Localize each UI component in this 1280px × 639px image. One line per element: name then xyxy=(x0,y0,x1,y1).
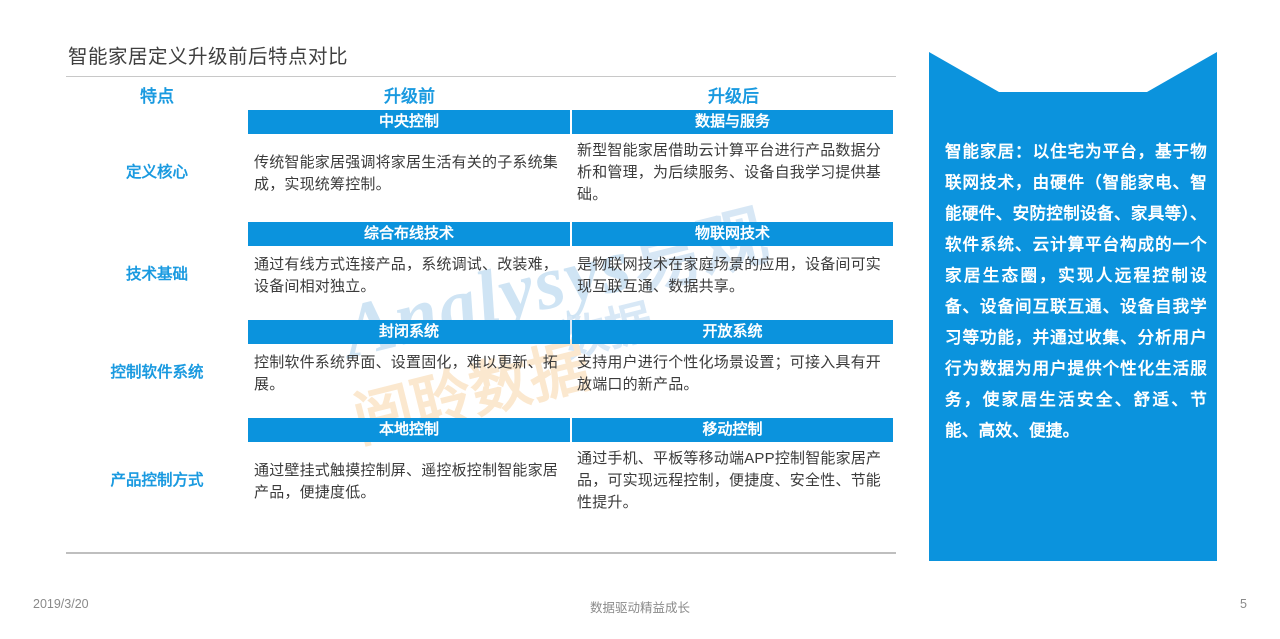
definition-banner-text: 智能家居：以住宅为平台，基于物联网技术，由硬件（智能家电、智能硬件、安防控制设备… xyxy=(945,137,1207,447)
cell-before-4: 通过壁挂式触摸控制屏、遥控板控制智能家居产品，便捷度低。 xyxy=(254,460,566,504)
row-label-3: 控制软件系统 xyxy=(66,360,248,382)
column-header-after: 升级后 xyxy=(571,82,896,107)
band-before-3: 封闭系统 xyxy=(248,320,570,344)
divider-bottom xyxy=(66,552,896,554)
band-row-4: 本地控制 移动控制 xyxy=(66,418,896,442)
slide-canvas: Analysys 易观 数据 阅聆数据 智能家居定义升级前后特点对比 特点 升级… xyxy=(0,0,1280,639)
definition-banner: 智能家居：以住宅为平台，基于物联网技术，由硬件（智能家电、智能硬件、安防控制设备… xyxy=(929,52,1217,561)
band-row-3: 封闭系统 开放系统 xyxy=(66,320,896,344)
band-before-2: 综合布线技术 xyxy=(248,222,570,246)
band-before-4: 本地控制 xyxy=(248,418,570,442)
table-header-row: 特点 升级前 升级后 xyxy=(66,82,896,108)
row-label-4: 产品控制方式 xyxy=(66,468,248,490)
table-row: 技术基础 通过有线方式连接产品，系统调试、改装难，设备间相对独立。 是物联网技术… xyxy=(66,246,896,318)
band-after-1: 数据与服务 xyxy=(572,110,893,134)
cell-after-3: 支持用户进行个性化场景设置；可接入具有开放端口的新产品。 xyxy=(577,352,893,396)
cell-after-2: 是物联网技术在家庭场景的应用，设备间可实现互联互通、数据共享。 xyxy=(577,254,893,298)
table-row: 产品控制方式 通过壁挂式触摸控制屏、遥控板控制智能家居产品，便捷度低。 通过手机… xyxy=(66,442,896,532)
page-title: 智能家居定义升级前后特点对比 xyxy=(68,40,348,69)
table-row: 定义核心 传统智能家居强调将家居生活有关的子系统集成，实现统筹控制。 新型智能家… xyxy=(66,134,896,220)
band-after-4: 移动控制 xyxy=(572,418,893,442)
row-label-2: 技术基础 xyxy=(66,262,248,284)
cell-after-4: 通过手机、平板等移动端APP控制智能家居产品，可实现远程控制，便捷度、安全性、节… xyxy=(577,448,893,514)
footer-tagline: 数据驱动精益成长 xyxy=(0,597,1280,616)
table-row: 控制软件系统 控制软件系统界面、设置固化，难以更新、拓展。 支持用户进行个性化场… xyxy=(66,344,896,416)
band-row-2: 综合布线技术 物联网技术 xyxy=(66,222,896,246)
column-header-feature: 特点 xyxy=(66,82,248,107)
row-label-1: 定义核心 xyxy=(66,160,248,182)
band-after-2: 物联网技术 xyxy=(572,222,893,246)
column-header-before: 升级前 xyxy=(248,82,571,107)
cell-before-3: 控制软件系统界面、设置固化，难以更新、拓展。 xyxy=(254,352,566,396)
cell-before-1: 传统智能家居强调将家居生活有关的子系统集成，实现统筹控制。 xyxy=(254,152,566,196)
footer-page-number: 5 xyxy=(1240,597,1247,611)
band-after-3: 开放系统 xyxy=(572,320,893,344)
comparison-table: 特点 升级前 升级后 中央控制 数据与服务 定义核心 传统智能家居强调将家居生活… xyxy=(66,82,896,550)
band-before-1: 中央控制 xyxy=(248,110,570,134)
band-row-1: 中央控制 数据与服务 xyxy=(66,110,896,134)
cell-after-1: 新型智能家居借助云计算平台进行产品数据分析和管理，为后续服务、设备自我学习提供基… xyxy=(577,140,893,206)
cell-before-2: 通过有线方式连接产品，系统调试、改装难，设备间相对独立。 xyxy=(254,254,566,298)
divider-top xyxy=(66,76,896,77)
